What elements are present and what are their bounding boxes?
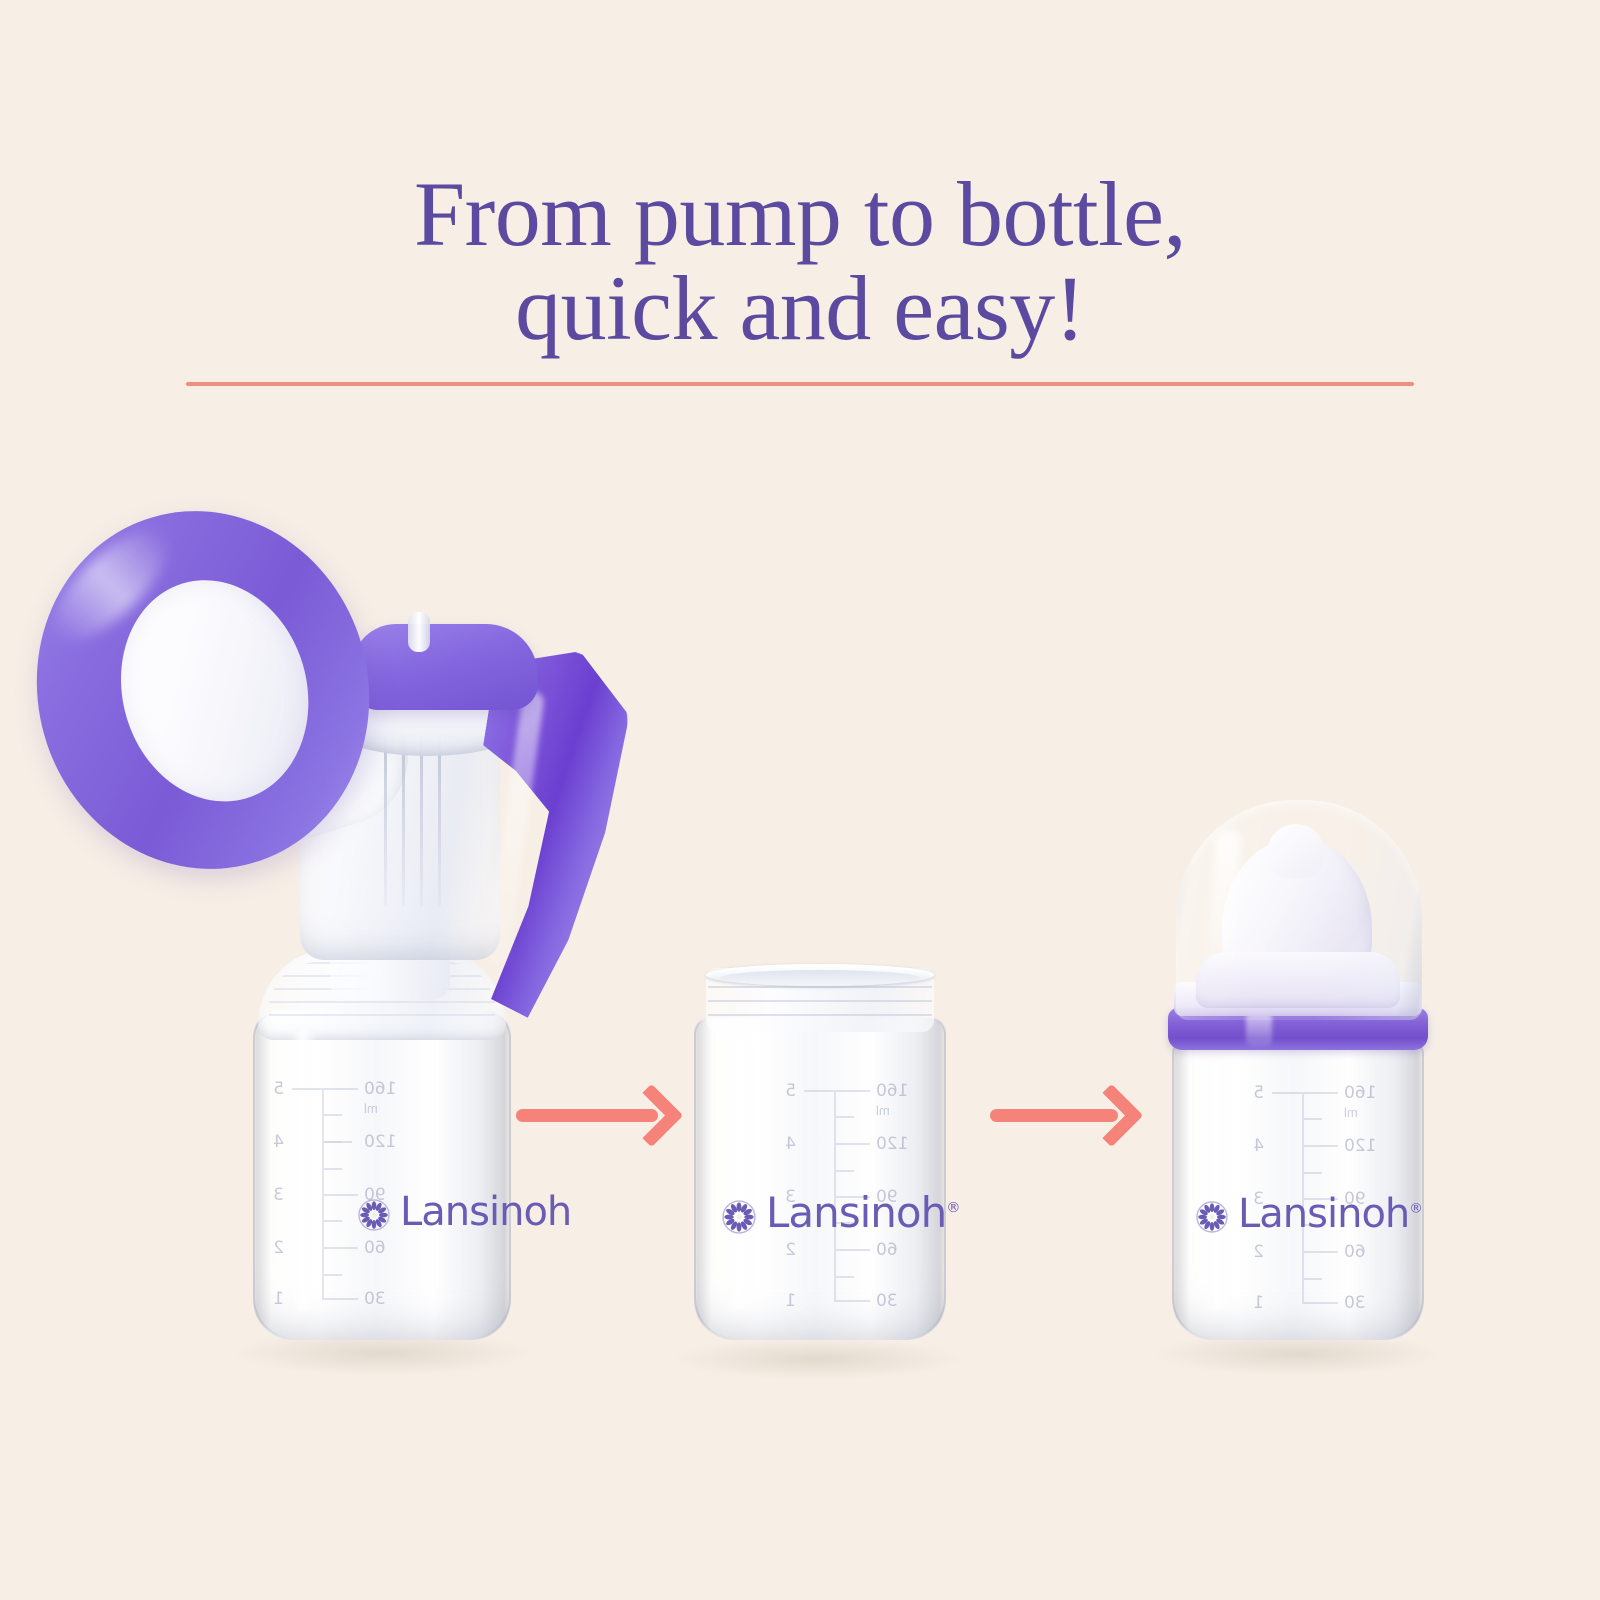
daisy-flower-icon: [358, 1196, 390, 1228]
brand-logo-container: Lansinoh®: [722, 1192, 961, 1234]
arrow-head-icon: [620, 1084, 684, 1148]
title-divider-rule: [186, 382, 1414, 386]
daisy-flower-icon: [1196, 1198, 1228, 1230]
arrow-container-to-bottle: [990, 1085, 1138, 1145]
baby-bottle-highlight: [1204, 1060, 1230, 1310]
arrow-head-icon: [1080, 1084, 1144, 1148]
product-marketing-image: From pump to bottle, quick and easy! 160…: [0, 0, 1600, 1600]
container-highlight: [726, 1040, 752, 1310]
pump-bottle-measurement-scale: 160 ml 5 120 4 90 3 60 2 30 1: [278, 1088, 370, 1300]
brand-wordmark: Lansinoh®: [1238, 1194, 1423, 1234]
brand-wordmark: Lansinoh®: [766, 1192, 961, 1234]
container-inner-mouth: [720, 970, 920, 986]
pump-air-stem: [408, 612, 430, 652]
pump-valve-stems: [372, 736, 462, 936]
page-title: From pump to bottle, quick and easy!: [0, 168, 1600, 356]
container-drop-shadow: [672, 1338, 962, 1380]
brand-logo-baby-bottle: Lansinoh®: [1196, 1194, 1423, 1234]
registered-trademark: ®: [1409, 1201, 1423, 1217]
registered-trademark: ®: [946, 1200, 960, 1216]
brand-logo-pump-bottle: Lansinoh: [358, 1192, 571, 1232]
brand-wordmark: Lansinoh: [400, 1192, 571, 1232]
daisy-flower-icon: [722, 1196, 756, 1230]
arrow-pump-to-container: [516, 1085, 678, 1145]
pump-cap: [352, 624, 538, 710]
